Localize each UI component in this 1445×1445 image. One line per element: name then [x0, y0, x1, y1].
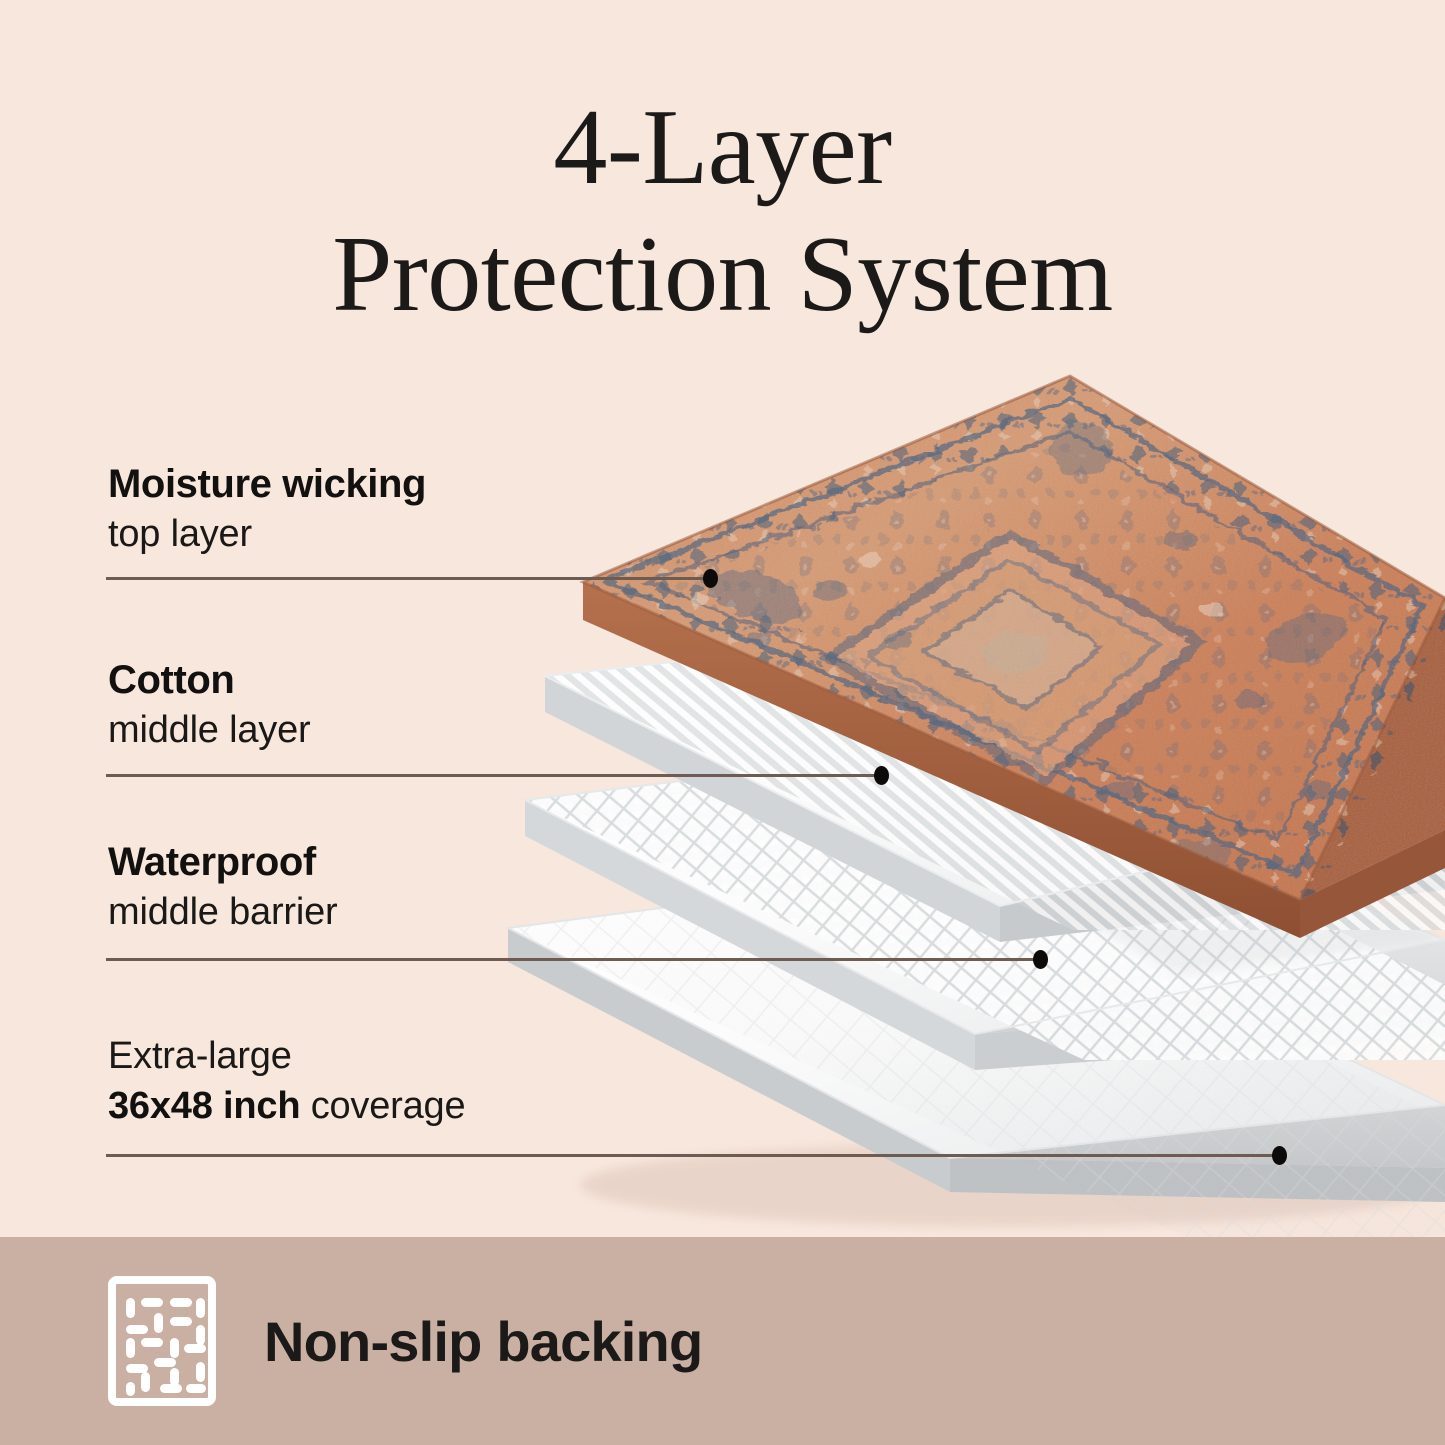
leader-dot-1 — [703, 569, 718, 588]
label-heading: Waterproof — [108, 840, 338, 885]
leader-line-4 — [106, 1154, 1280, 1157]
label-heading: Moisture wicking — [108, 462, 426, 507]
size-line-1: Extra-large — [108, 1034, 465, 1079]
leader-line-1 — [106, 577, 711, 580]
size-suffix: coverage — [300, 1085, 465, 1127]
leader-line-3 — [106, 958, 1041, 961]
label-subtitle: middle barrier — [108, 890, 338, 935]
label-subtitle: top layer — [108, 512, 426, 557]
label-cotton: Cotton middle layer — [108, 658, 310, 753]
leader-line-2 — [106, 774, 882, 777]
banner-label: Non-slip backing — [264, 1309, 702, 1374]
size-value: 36x48 inch — [108, 1085, 300, 1127]
label-waterproof: Waterproof middle barrier — [108, 840, 338, 935]
leader-dot-3 — [1033, 950, 1048, 969]
non-slip-grip-icon — [108, 1276, 216, 1406]
label-heading: Cotton — [108, 658, 310, 703]
label-size-coverage: Extra-large 36x48 inch coverage — [108, 1034, 465, 1129]
label-subtitle: middle layer — [108, 708, 310, 753]
label-moisture-wicking: Moisture wicking top layer — [108, 462, 426, 557]
size-line-2: 36x48 inch coverage — [108, 1084, 465, 1129]
non-slip-backing-banner: Non-slip backing — [0, 1237, 1445, 1445]
leader-dot-4 — [1272, 1146, 1287, 1165]
leader-dot-2 — [874, 766, 889, 785]
